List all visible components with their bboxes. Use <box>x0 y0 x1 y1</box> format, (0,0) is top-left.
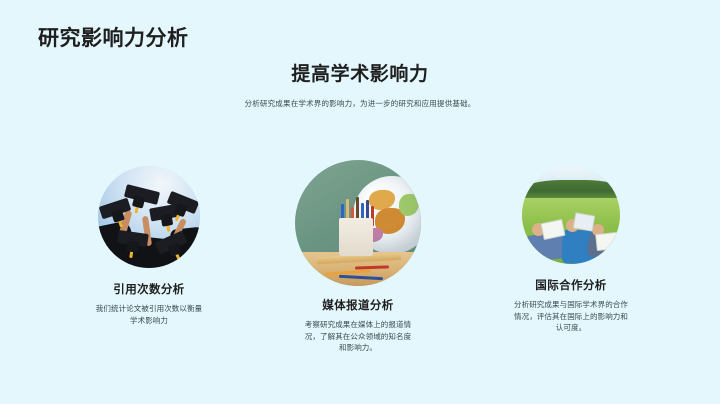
card-body: 考察研究成果在媒体上的报道情况，了解其在公众领域的知名度和影响力。 <box>302 319 414 354</box>
page-title: 研究影响力分析 <box>38 26 458 52</box>
classroom-globe-pencils-photo <box>295 160 421 286</box>
hero-section: 提高学术影响力 分析研究成果在学术界的影响力，为进一步的研究和应用提供基础。 <box>0 62 720 110</box>
slide: 研究影响力分析 提高学术影响力 分析研究成果在学术界的影响力，为进一步的研究和应… <box>0 0 720 404</box>
card-body: 分析研究成果与国际学术界的合作情况，评估其在国际上的影响力和认可度。 <box>514 299 628 334</box>
card-media-coverage-analysis[interactable]: 媒体报道分析 考察研究成果在媒体上的报道情况，了解其在公众领域的知名度和影响力。 <box>286 160 430 354</box>
card-citation-analysis[interactable]: 引用次数分析 我们统计论文被引用次数以衡量学术影响力 <box>78 166 220 326</box>
slide-header: 研究影响力分析 <box>38 26 458 54</box>
card-title: 媒体报道分析 <box>286 299 430 313</box>
cards-row: 引用次数分析 我们统计论文被引用次数以衡量学术影响力 <box>0 160 720 400</box>
card-international-collaboration-analysis[interactable]: 国际合作分析 分析研究成果与国际学术界的合作情况，评估其在国际上的影响力和认可度… <box>500 166 642 334</box>
card-body: 我们统计论文被引用次数以衡量学术影响力 <box>95 303 203 326</box>
hero-title: 提高学术影响力 <box>0 62 720 88</box>
children-reading-in-field-photo <box>522 166 620 264</box>
graduation-caps-photo <box>98 166 200 268</box>
card-title: 国际合作分析 <box>500 279 642 293</box>
hero-subtitle: 分析研究成果在学术界的影响力，为进一步的研究和应用提供基础。 <box>0 98 720 110</box>
card-title: 引用次数分析 <box>78 283 220 297</box>
